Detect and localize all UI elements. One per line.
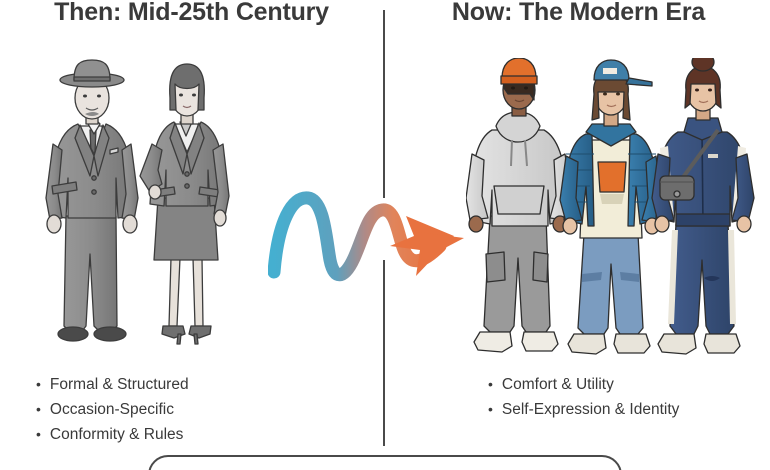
list-item: Comfort & Utility — [488, 372, 679, 397]
woman-in-skirt-suit-figure — [140, 64, 229, 344]
list-item: Self-Expression & Identity — [488, 397, 679, 422]
right-panel-title: Now: The Modern Era — [387, 0, 770, 27]
list-item: Conformity & Rules — [36, 422, 189, 447]
list-item: Formal & Structured — [36, 372, 189, 397]
left-bullet-list: Formal & Structured Occasion-Specific Co… — [36, 372, 189, 447]
transition-arrow — [268, 188, 478, 283]
right-figure-group — [466, 58, 766, 363]
infographic-canvas: Then: Mid-25th Century Now: The Modern E… — [0, 0, 770, 470]
left-panel-title: Then: Mid-25th Century — [0, 0, 383, 27]
person-in-hoodie-figure — [466, 58, 572, 352]
right-bullet-list: Comfort & Utility Self-Expression & Iden… — [488, 372, 679, 422]
list-item: Occasion-Specific — [36, 397, 189, 422]
man-in-suit-figure — [46, 60, 138, 341]
left-figure-group — [28, 58, 258, 358]
person-in-puffer-jacket-figure — [560, 60, 662, 354]
bottom-caption-box — [148, 455, 622, 470]
person-in-tracksuit-figure — [652, 58, 754, 354]
